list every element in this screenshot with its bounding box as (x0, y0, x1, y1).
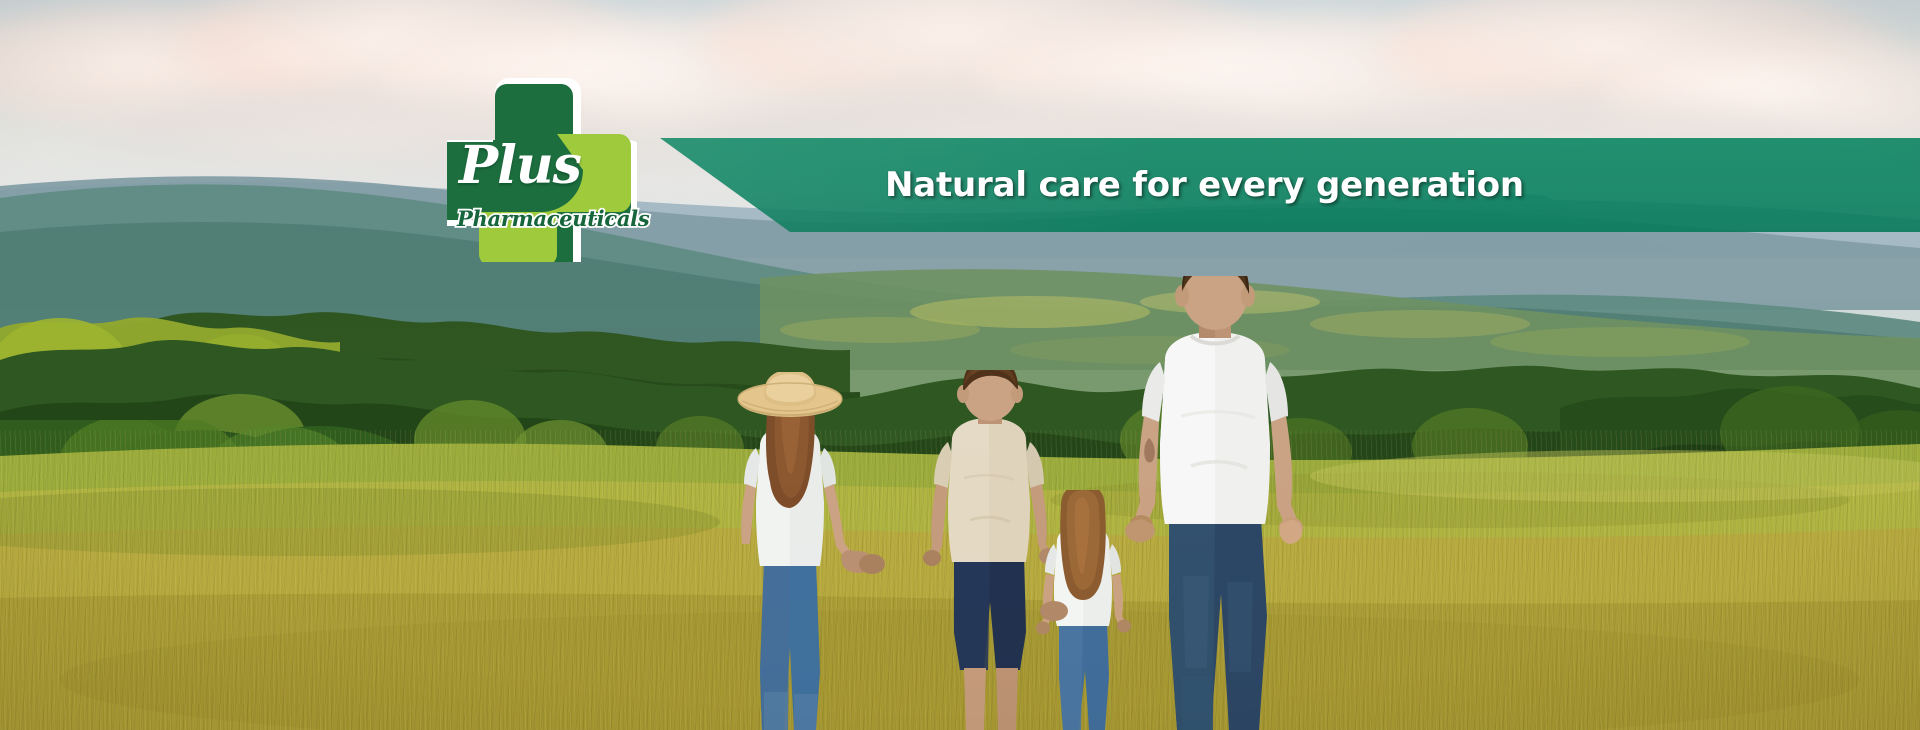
figure-mother-with-straw-hat (720, 372, 860, 730)
logo-wordmark-pharmaceuticals: Pharmaceuticals (457, 206, 632, 231)
figure-father (1125, 276, 1305, 730)
banner-tagline: Natural care for every generation (885, 165, 1524, 205)
joined-hands-connector (1112, 518, 1172, 544)
joined-hands-connector (1030, 598, 1090, 624)
hero-banner: Natural care for every generation Plus P… (0, 0, 1920, 730)
joined-hands-connector (840, 548, 940, 576)
logo-wordmark-plus: Plus (459, 140, 599, 192)
tagline-banner: Natural care for every generation (660, 138, 1920, 232)
brand-logo[interactable]: Plus Pharmaceuticals (447, 78, 637, 262)
